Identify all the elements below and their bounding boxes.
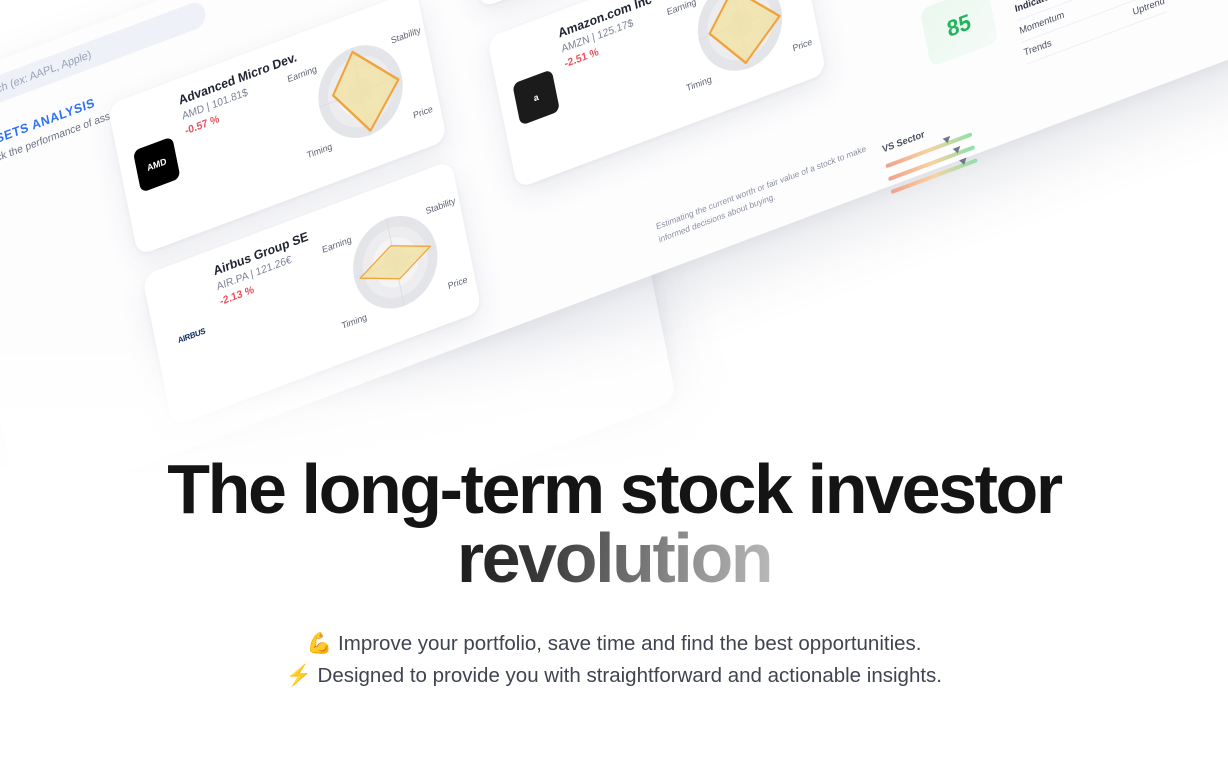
headline-line-2: revolution [457,519,771,597]
hero-sublines: 💪Improve your portfolio, save time and f… [0,628,1228,692]
asset-logo-text: AIRBUS [177,326,206,345]
asset-logo-airbus: AIRBUS [168,307,216,363]
vs-sector-marker [953,146,962,155]
vs-sector-marker [943,136,952,145]
asset-logo-amd: AMD [133,136,181,192]
dashboard-mockup-stage: Search (ex: AAPL, Apple) Earning Power 7… [0,0,1228,480]
asset-logo-amazon: a [512,69,560,125]
hero-subline-text: Designed to provide you with straightfor… [318,664,942,687]
hero-section: The long-term stock investor revolution … [0,455,1228,692]
hero-subline: ⚡Designed to provide you with straightfo… [0,660,1228,692]
vs-sector-marker [959,158,968,167]
indicator-row-label: Trends [1023,38,1053,59]
headline-line-1: The long-term stock investor [167,450,1061,528]
page-headline: The long-term stock investor revolution [0,455,1228,592]
asset-logo-text: AMD [146,156,167,173]
asset-logo-text: a [533,92,540,104]
lightning-bolt-icon: ⚡ [286,664,312,687]
hero-subline: 💪Improve your portfolio, save time and f… [0,628,1228,660]
hero-subline-text: Improve your portfolio, save time and fi… [338,632,921,655]
flexed-biceps-icon: 💪 [307,632,333,655]
